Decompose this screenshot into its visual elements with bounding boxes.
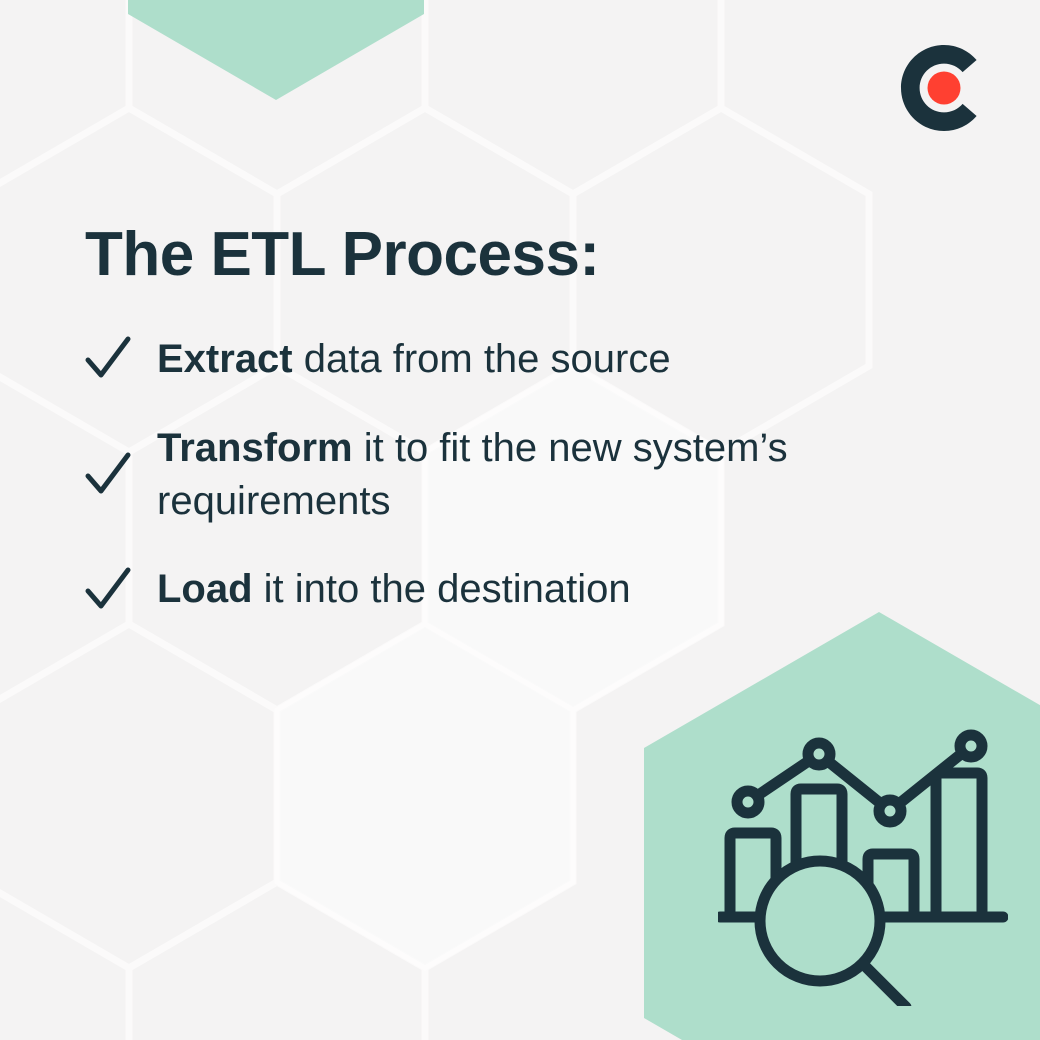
checkmark-icon	[85, 567, 131, 613]
etl-checklist: Extract data from the source Transform i…	[85, 333, 915, 616]
list-item-keyword: Load	[157, 567, 253, 611]
trend-point-4	[960, 735, 982, 757]
checkmark-icon	[85, 452, 131, 498]
page-title: The ETL Process:	[85, 222, 915, 287]
checkmark-icon	[85, 336, 131, 382]
social-graphic-canvas: The ETL Process: Extract data from the s…	[0, 0, 1040, 1040]
brand-logo-c[interactable]	[898, 42, 990, 134]
list-item: Load it into the destination	[85, 563, 915, 616]
list-item-rest: data from the source	[293, 337, 671, 381]
hexagon-accent-top	[128, 0, 424, 100]
trend-point-3	[879, 800, 901, 822]
list-item-rest: it into the destination	[253, 567, 631, 611]
list-item-keyword: Transform	[157, 426, 353, 470]
list-item-text: Transform it to fit the new system’s req…	[157, 422, 915, 528]
magnifier-handle	[864, 965, 906, 1006]
list-item-text: Load it into the destination	[157, 563, 631, 616]
list-item: Extract data from the source	[85, 333, 915, 386]
trend-point-2	[808, 743, 830, 765]
list-item-text: Extract data from the source	[157, 333, 671, 386]
list-item: Transform it to fit the new system’s req…	[85, 422, 915, 528]
list-item-keyword: Extract	[157, 337, 293, 381]
trend-point-1	[737, 791, 759, 813]
bar-4	[936, 773, 982, 911]
data-analytics-icon	[718, 716, 1008, 1006]
content-block: The ETL Process: Extract data from the s…	[85, 222, 915, 652]
